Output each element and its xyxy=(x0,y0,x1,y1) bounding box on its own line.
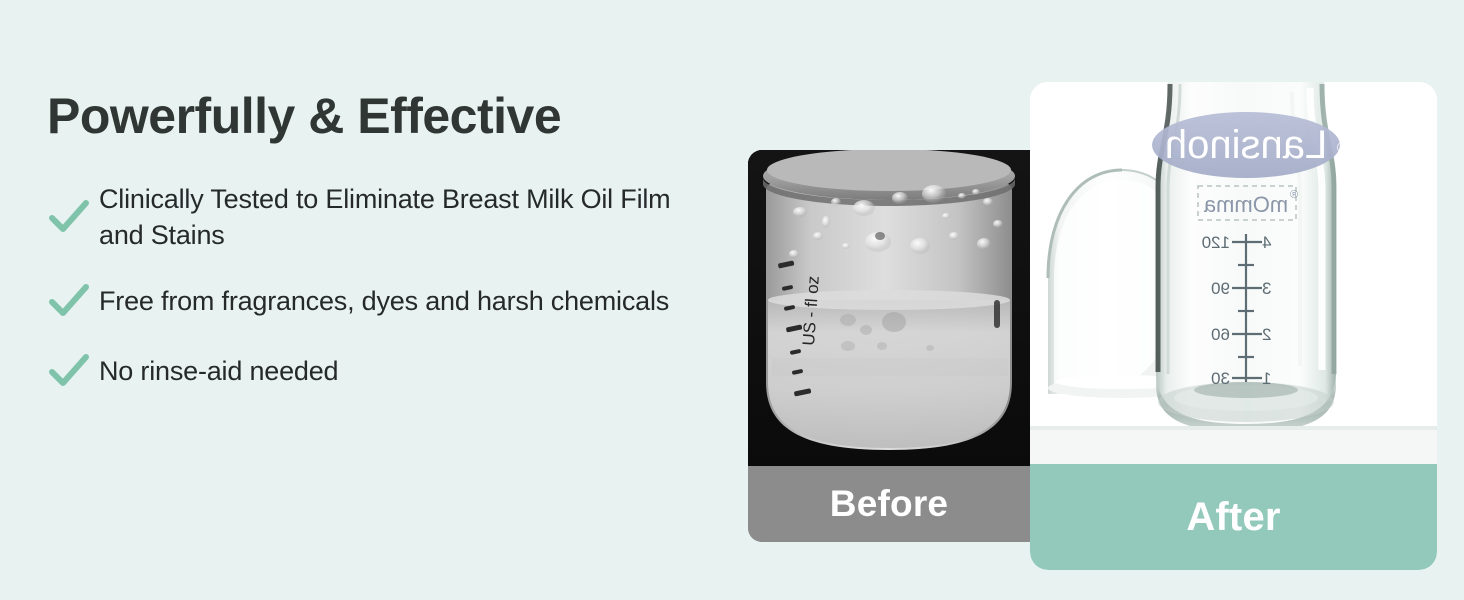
svg-text:2: 2 xyxy=(1262,325,1271,344)
svg-text:4: 4 xyxy=(1262,233,1271,252)
list-item-label: Clinically Tested to Eliminate Breast Mi… xyxy=(99,181,699,253)
benefits-list: Clinically Tested to Eliminate Breast Mi… xyxy=(47,181,707,393)
list-item: No rinse-aid needed xyxy=(47,349,707,393)
list-item: Clinically Tested to Eliminate Breast Mi… xyxy=(47,181,707,253)
svg-text:mOmma: mOmma xyxy=(1203,192,1288,217)
svg-text:®: ® xyxy=(1336,139,1347,155)
svg-text:®: ® xyxy=(1290,189,1298,201)
svg-text:30: 30 xyxy=(1211,369,1230,388)
list-item: Free from fragrances, dyes and harsh che… xyxy=(47,279,707,323)
svg-text:1: 1 xyxy=(1262,369,1271,388)
before-label-text: Before xyxy=(830,483,948,525)
svg-text:90: 90 xyxy=(1211,279,1230,298)
checkmark-icon xyxy=(47,349,91,393)
before-label: Before xyxy=(748,466,1030,542)
checkmark-icon xyxy=(47,195,91,239)
list-item-label: Free from fragrances, dyes and harsh che… xyxy=(99,283,669,319)
svg-text:60: 60 xyxy=(1211,325,1230,344)
copy-block: Powerfully & Effective Clinically Tested… xyxy=(47,90,707,393)
after-card: Lansinoh ® mOmma ® 120 xyxy=(1030,82,1437,570)
promo-banner: Powerfully & Effective Clinically Tested… xyxy=(0,0,1464,600)
list-item-label: No rinse-aid needed xyxy=(99,353,338,389)
after-label: After xyxy=(1030,464,1437,570)
checkmark-icon xyxy=(47,279,91,323)
svg-text:120: 120 xyxy=(1202,233,1230,252)
page-title: Powerfully & Effective xyxy=(47,90,707,143)
after-bottle-photo: Lansinoh ® mOmma ® 120 xyxy=(1030,82,1437,464)
after-label-text: After xyxy=(1186,495,1280,540)
svg-text:Lansinoh: Lansinoh xyxy=(1165,123,1327,167)
svg-text:3: 3 xyxy=(1262,279,1271,298)
before-card: US - fl oz Before xyxy=(748,150,1030,542)
before-bottle-photo: US - fl oz xyxy=(748,150,1030,466)
